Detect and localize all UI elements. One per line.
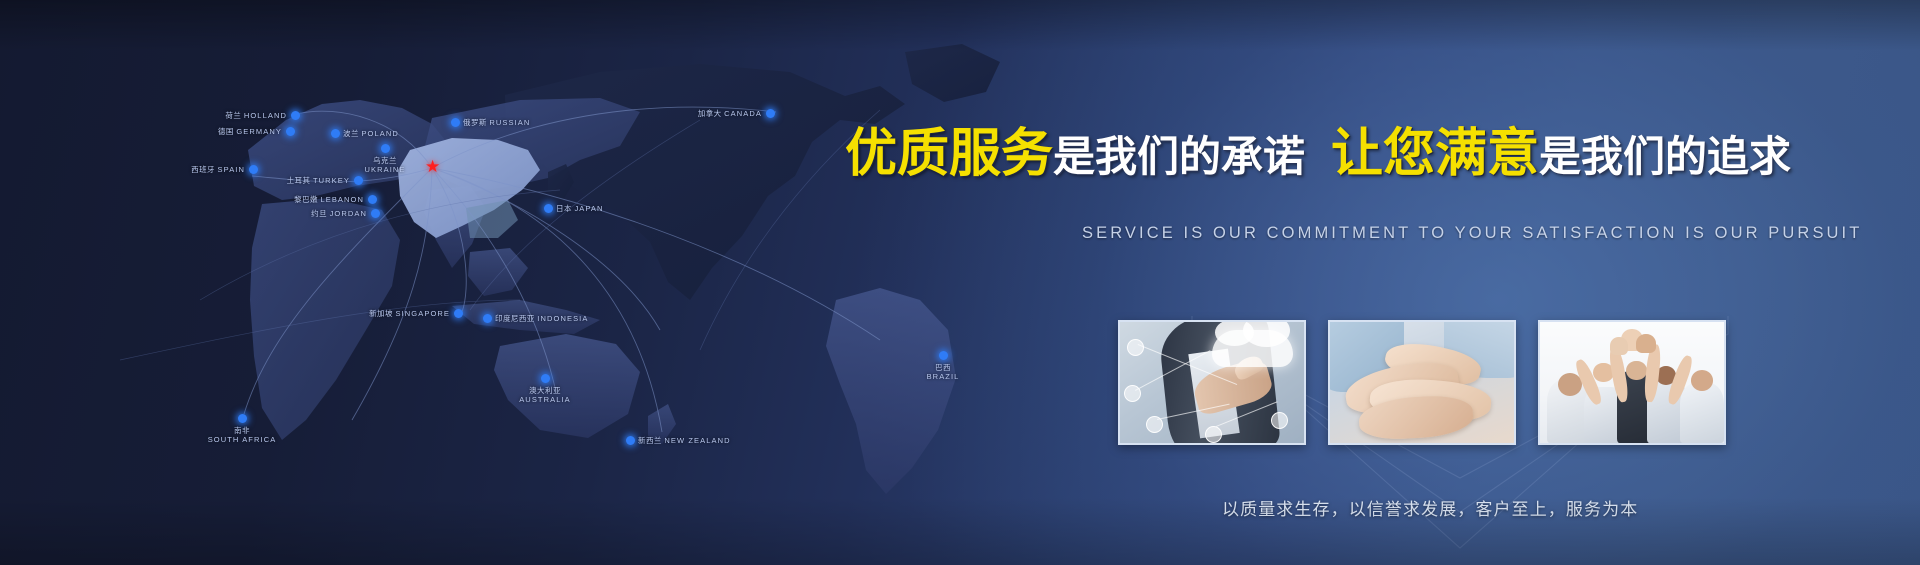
map-marker-label: 波兰 POLAND — [343, 129, 399, 138]
person-head — [1626, 361, 1646, 380]
map-marker-label: 俄罗斯 RUSSIAN — [463, 118, 530, 127]
map-marker-label: 乌克兰UKRAINE — [364, 156, 405, 175]
map-marker-label: 南非SOUTH AFRICA — [208, 426, 277, 445]
person-torso — [1680, 383, 1724, 444]
headline-highlight-1: 优质服务 — [845, 124, 1053, 184]
map-marker-dot[interactable] — [249, 165, 258, 174]
map-marker-label: 土耳其 TURKEY — [287, 176, 350, 185]
cloud-icon — [1212, 330, 1293, 366]
map-marker-dot[interactable] — [483, 314, 492, 323]
person-head — [1691, 370, 1713, 391]
map-marker-label: 新西兰 NEW ZEALAND — [638, 436, 731, 445]
map-marker-dot[interactable] — [368, 195, 377, 204]
map-marker-label: 荷兰 HOLLAND — [225, 111, 287, 120]
raised-hand — [1636, 334, 1656, 353]
team-highfive-photo-content — [1540, 322, 1724, 443]
raised-hand — [1610, 337, 1628, 355]
photo-strip — [1118, 320, 1726, 445]
map-marker-label: 西班牙 SPAIN — [191, 165, 245, 174]
map-marker-dot[interactable] — [381, 144, 390, 153]
service-promise-banner: ★ 荷兰 HOLLAND波兰 POLAND德国 GERMANY乌克兰UKRAIN… — [0, 0, 1920, 565]
map-marker-label: 巴西BRAZIL — [927, 363, 960, 382]
landmass-greenland — [905, 44, 1000, 102]
map-marker-label: 约旦 JORDAN — [311, 209, 367, 218]
network-node-icon — [1127, 339, 1144, 356]
headline-subtitle-english: SERVICE IS OUR COMMITMENT TO YOUR SATISF… — [1082, 224, 1862, 243]
map-marker-dot[interactable] — [451, 118, 460, 127]
map-marker-dot[interactable] — [454, 309, 463, 318]
stacked-hands-photo-content — [1330, 322, 1514, 443]
map-marker-dot[interactable] — [939, 351, 948, 360]
map-marker-dot[interactable] — [766, 109, 775, 118]
headline-white-1: 是我们的承诺 — [1053, 132, 1305, 181]
world-map-svg — [0, 0, 1130, 565]
map-marker-label: 黎巴嫩 LEBANON — [294, 195, 364, 204]
map-marker-label: 加拿大 CANADA — [698, 109, 762, 118]
map-marker-label: 日本 JAPAN — [556, 204, 604, 213]
landmass-southeast-asia — [468, 248, 528, 296]
world-map: ★ 荷兰 HOLLAND波兰 POLAND德国 GERMANY乌克兰UKRAIN… — [0, 0, 1130, 565]
cloud-technology-photo-content — [1120, 322, 1304, 443]
headline-white-2: 是我们的追求 — [1539, 132, 1791, 181]
map-marker-label: 澳大利亚AUSTRALIA — [519, 386, 571, 405]
landmass-south-america — [826, 288, 956, 494]
china-home-star: ★ — [425, 158, 440, 175]
map-marker-dot[interactable] — [371, 209, 380, 218]
company-tagline: 以质量求生存，以信誉求发展，客户至上，服务为本 — [1222, 495, 1638, 520]
map-marker-dot[interactable] — [238, 414, 247, 423]
map-marker-dot[interactable] — [544, 204, 553, 213]
map-marker-label: 新加坡 SINGAPORE — [369, 309, 450, 318]
headline: 优质服务是我们的承诺让您满意是我们的追求 — [845, 128, 1905, 180]
team-highfive-photo[interactable] — [1538, 320, 1726, 445]
map-marker-dot[interactable] — [541, 374, 550, 383]
map-marker-dot[interactable] — [626, 436, 635, 445]
map-marker-dot[interactable] — [331, 129, 340, 138]
headline-highlight-2: 让您满意 — [1331, 124, 1539, 184]
network-node-icon — [1205, 426, 1222, 443]
map-marker-dot[interactable] — [354, 176, 363, 185]
cloud-technology-photo[interactable] — [1118, 320, 1306, 445]
map-marker-label: 印度尼西亚 INDONESIA — [495, 314, 588, 323]
stacked-hands-photo[interactable] — [1328, 320, 1516, 445]
headline-block: 优质服务是我们的承诺让您满意是我们的追求 — [845, 128, 1905, 180]
network-node-icon — [1271, 412, 1288, 429]
map-marker-dot[interactable] — [291, 111, 300, 120]
map-marker-label: 德国 GERMANY — [218, 127, 282, 136]
map-marker-dot[interactable] — [286, 127, 295, 136]
